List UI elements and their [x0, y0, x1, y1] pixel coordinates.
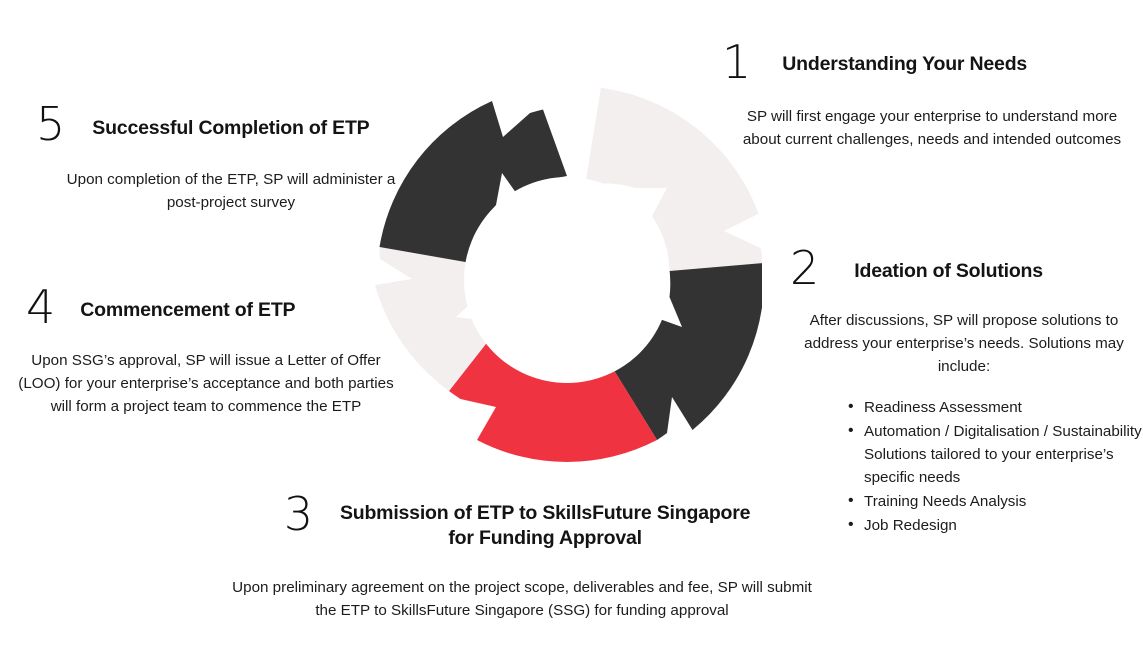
step-1-title: Understanding Your Needs: [782, 42, 1027, 77]
step-3-header: 3 Submission of ETP to SkillsFuture Sing…: [232, 496, 812, 551]
step-2-header: 2 Ideation of Solutions: [790, 248, 1143, 288]
step-4-body: Upon SSG’s approval, SP will issue a Let…: [15, 349, 397, 418]
infographic-canvas: 1 Understanding Your Needs SP will first…: [0, 0, 1143, 656]
step-4-body-text: Upon SSG’s approval, SP will issue a Let…: [15, 349, 397, 418]
step-5: 5 Successful Completion of ETP Upon comp…: [18, 104, 418, 214]
step-5-header: 5 Successful Completion of ETP: [18, 104, 418, 144]
step-2-title: Ideation of Solutions: [854, 248, 1043, 284]
step-5-body-text: Upon completion of the ETP, SP will admi…: [66, 168, 396, 214]
step-4: 4 Commencement of ETP Upon SSG’s approva…: [8, 287, 408, 418]
step-5-body: Upon completion of the ETP, SP will admi…: [66, 168, 396, 214]
list-item: Job Redesign: [848, 514, 1143, 537]
list-item: Readiness Assessment: [848, 396, 1143, 419]
step-2-bullet-list: Readiness Assessment Automation / Digita…: [848, 396, 1143, 537]
step-4-number: 4: [26, 287, 54, 327]
process-cycle-donut: [372, 85, 762, 475]
step-4-header: 4 Commencement of ETP: [8, 287, 408, 327]
step-3-body: Upon preliminary agreement on the projec…: [232, 576, 812, 622]
step-2-number: 2: [790, 248, 818, 288]
step-1: 1 Understanding Your Needs SP will first…: [722, 42, 1137, 151]
step-2-body-text: After discussions, SP will propose solut…: [794, 309, 1134, 378]
step-3-title: Submission of ETP to SkillsFuture Singap…: [330, 496, 760, 551]
list-item: Training Needs Analysis: [848, 490, 1143, 513]
step-1-body-text: SP will first engage your enterprise to …: [737, 105, 1127, 151]
step-5-title: Successful Completion of ETP: [92, 104, 369, 141]
donut-inner-hole: [464, 177, 670, 383]
list-item: Automation / Digitalisation / Sustainabi…: [848, 420, 1143, 489]
step-4-title: Commencement of ETP: [80, 287, 295, 323]
step-3: 3 Submission of ETP to SkillsFuture Sing…: [232, 496, 812, 622]
step-3-number: 3: [284, 494, 312, 534]
donut-svg: [372, 85, 762, 475]
step-1-number: 1: [722, 42, 750, 82]
step-3-body-text: Upon preliminary agreement on the projec…: [232, 576, 812, 622]
step-2-body: After discussions, SP will propose solut…: [794, 309, 1134, 378]
step-5-number: 5: [36, 104, 64, 144]
step-1-header: 1 Understanding Your Needs: [722, 42, 1137, 82]
step-1-body: SP will first engage your enterprise to …: [737, 105, 1127, 151]
step-2: 2 Ideation of Solutions After discussion…: [790, 248, 1143, 538]
